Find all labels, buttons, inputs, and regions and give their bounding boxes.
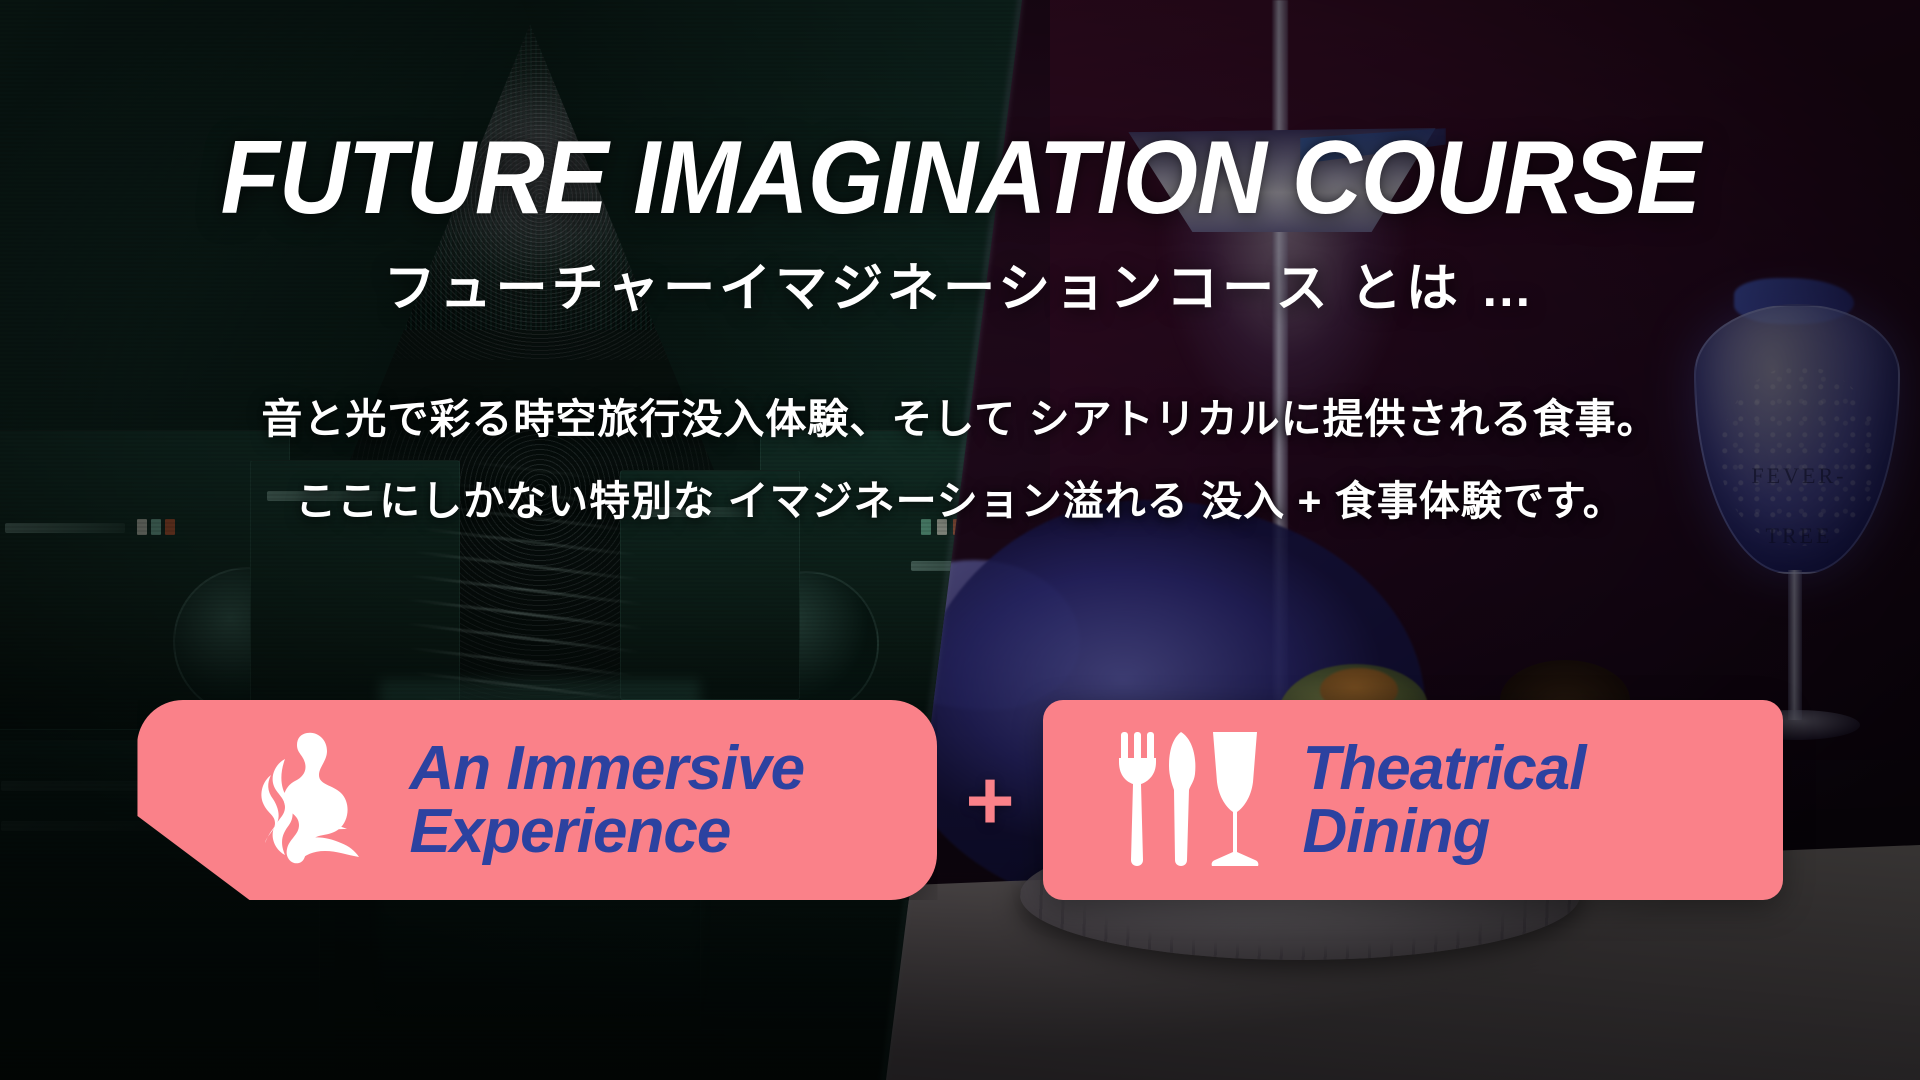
badge-theatrical-label: Theatrical Dining (1303, 737, 1586, 863)
feature-badges: An Immersive Experience + (0, 700, 1920, 900)
badge-immersive-label: An Immersive Experience (409, 737, 804, 863)
description-line-1: 音と光で彩る時空旅行没入体験、そして シアトリカルに提供される食事。 (261, 385, 1658, 445)
badge-separator-plus: + (965, 758, 1014, 842)
badge-theatrical-dining[interactable]: Theatrical Dining (1043, 700, 1783, 900)
hero-banner: FEVER-TREE FUTURE IMAGINATION COURSE フュー… (0, 0, 1920, 1080)
immersive-waves-icon (255, 729, 375, 872)
fork-knife-glass-icon (1117, 728, 1265, 873)
badge-immersive-experience[interactable]: An Immersive Experience (137, 700, 937, 900)
hero-description: 音と光で彩る時空旅行没入体験、そして シアトリカルに提供される食事。 ここにしか… (261, 385, 1658, 527)
page-subtitle: フューチャーイマジネーションコース とは … (384, 246, 1537, 321)
hero-content: FUTURE IMAGINATION COURSE フューチャーイマジネーション… (0, 0, 1920, 1080)
page-title: FUTURE IMAGINATION COURSE (220, 126, 1699, 230)
description-line-2: ここにしかない特別な イマジネーション溢れる 没入 + 食事体験です。 (295, 467, 1625, 527)
